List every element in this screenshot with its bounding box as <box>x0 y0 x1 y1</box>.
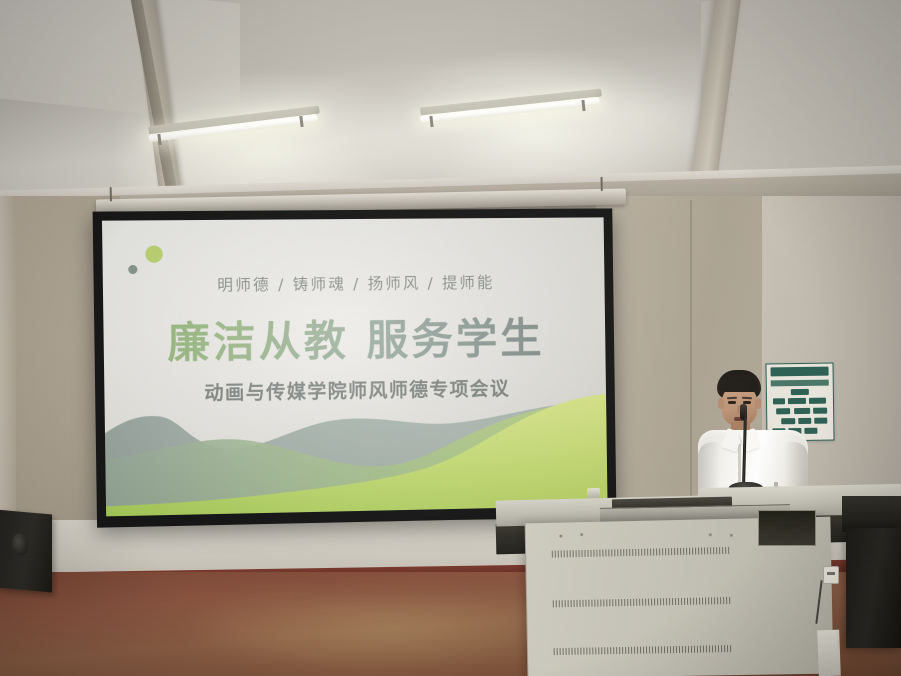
presenter-hair-fringe <box>719 378 759 392</box>
desk-knob[interactable] <box>587 488 600 498</box>
wall-power-outlet <box>823 566 839 584</box>
decorative-dot-green-icon <box>145 246 163 263</box>
slide-title: 廉洁从教 服务学生 <box>103 304 605 371</box>
presenter-ear-right <box>755 398 761 409</box>
slide-wave-graphic <box>104 377 607 516</box>
podium-screw-3 <box>709 533 712 536</box>
podium-screw-4 <box>730 534 733 537</box>
slide-kicker-text: 明师德 / 铸师魂 / 扬师风 / 提师能 <box>103 270 605 297</box>
podium-foot <box>817 630 841 676</box>
lecture-hall-photo: 明师德 / 铸师魂 / 扬师风 / 提师能 廉洁从教 服务学生 动画与传媒学院师… <box>0 0 901 676</box>
podium-screw-2 <box>580 533 583 536</box>
wall-left-corner <box>0 196 16 547</box>
decorative-dot-gray-icon <box>128 265 137 274</box>
projection-screen[interactable]: 明师德 / 铸师魂 / 扬师风 / 提师能 廉洁从教 服务学生 动画与传媒学院师… <box>93 208 617 527</box>
wall-cabinet <box>758 510 816 546</box>
loudspeaker-left <box>0 510 52 593</box>
presenter-eye-left <box>728 401 736 404</box>
podium-vent-row-1 <box>552 547 731 558</box>
slide-canvas: 明师德 / 铸师魂 / 扬师风 / 提师能 廉洁从教 服务学生 动画与传媒学院师… <box>102 217 608 516</box>
screen-hook-left <box>110 187 112 201</box>
presenter-ear-left <box>718 398 724 409</box>
podium-vent-row-3 <box>554 645 733 655</box>
loudspeaker-top-right <box>842 496 901 532</box>
loudspeaker-left-cone <box>12 533 28 556</box>
podium-vent-row-2 <box>553 597 732 607</box>
podium-screw-1 <box>559 535 562 538</box>
screen-hook-right <box>601 177 603 191</box>
outlet-slot <box>827 572 835 575</box>
loudspeaker-right <box>846 528 901 648</box>
